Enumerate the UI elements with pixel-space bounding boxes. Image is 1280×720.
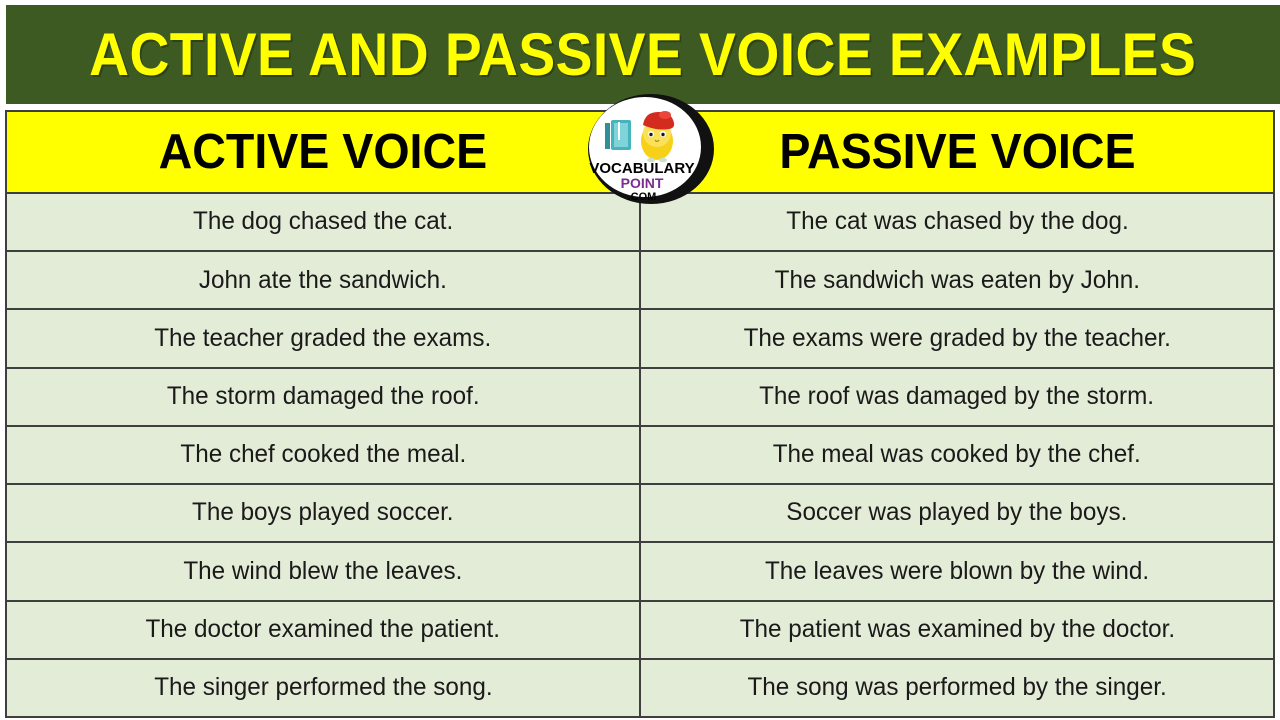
passive-sentence: Soccer was played by the boys. — [786, 499, 1127, 527]
table-row: The teacher graded the exams. The exams … — [6, 309, 1274, 367]
passive-cell: The sandwich was eaten by John. — [640, 251, 1274, 309]
passive-cell: The song was performed by the singer. — [640, 659, 1274, 717]
passive-cell: The exams were graded by the teacher. — [640, 309, 1274, 367]
examples-table-wrapper: ACTIVE VOICE PASSIVE VOICE The dog chase… — [5, 110, 1275, 718]
column-header-passive-voice-label: PASSIVE VOICE — [779, 128, 1135, 177]
passive-sentence: The leaves were blown by the wind. — [765, 558, 1149, 586]
page-title: ACTIVE AND PASSIVE VOICE EXAMPLES — [89, 25, 1196, 85]
column-header-passive-voice: PASSIVE VOICE — [640, 111, 1274, 193]
table-row: The wind blew the leaves. The leaves wer… — [6, 542, 1274, 600]
active-sentence: The boys played soccer. — [192, 499, 454, 527]
column-header-active-voice-label: ACTIVE VOICE — [159, 128, 487, 177]
active-sentence: The teacher graded the exams. — [154, 325, 491, 353]
passive-sentence: The exams were graded by the teacher. — [743, 325, 1170, 353]
table-row: John ate the sandwich. The sandwich was … — [6, 251, 1274, 309]
active-sentence: The wind blew the leaves. — [183, 558, 462, 586]
active-sentence: The dog chased the cat. — [193, 208, 453, 236]
title-banner: ACTIVE AND PASSIVE VOICE EXAMPLES — [6, 5, 1280, 104]
active-sentence: The doctor examined the patient. — [146, 616, 501, 644]
active-cell: The dog chased the cat. — [6, 193, 640, 251]
active-passive-table: ACTIVE VOICE PASSIVE VOICE The dog chase… — [5, 110, 1275, 718]
active-cell: The boys played soccer. — [6, 484, 640, 542]
passive-sentence: The sandwich was eaten by John. — [774, 267, 1139, 295]
column-header-active-voice: ACTIVE VOICE — [6, 111, 640, 193]
table-row: The singer performed the song. The song … — [6, 659, 1274, 717]
passive-sentence: The cat was chased by the dog. — [786, 208, 1128, 236]
passive-cell: The leaves were blown by the wind. — [640, 542, 1274, 600]
active-cell: The teacher graded the exams. — [6, 309, 640, 367]
active-sentence: The storm damaged the roof. — [167, 383, 480, 411]
table-row: The boys played soccer. Soccer was playe… — [6, 484, 1274, 542]
poster-root: ACTIVE AND PASSIVE VOICE EXAMPLES ACTIVE… — [0, 0, 1280, 720]
table-head: ACTIVE VOICE PASSIVE VOICE — [6, 111, 1274, 193]
passive-cell: The meal was cooked by the chef. — [640, 426, 1274, 484]
passive-sentence: The patient was examined by the doctor. — [739, 616, 1174, 644]
table-row: The storm damaged the roof. The roof was… — [6, 368, 1274, 426]
active-cell: The doctor examined the patient. — [6, 601, 640, 659]
table-row: The doctor examined the patient. The pat… — [6, 601, 1274, 659]
passive-sentence: The meal was cooked by the chef. — [773, 441, 1141, 469]
table-header-row: ACTIVE VOICE PASSIVE VOICE — [6, 111, 1274, 193]
table-row: The dog chased the cat. The cat was chas… — [6, 193, 1274, 251]
passive-sentence: The song was performed by the singer. — [747, 674, 1166, 702]
active-cell: The wind blew the leaves. — [6, 542, 640, 600]
active-sentence: The singer performed the song. — [154, 674, 492, 702]
active-cell: The singer performed the song. — [6, 659, 640, 717]
active-sentence: John ate the sandwich. — [199, 267, 447, 295]
passive-cell: The patient was examined by the doctor. — [640, 601, 1274, 659]
passive-cell: Soccer was played by the boys. — [640, 484, 1274, 542]
table-row: The chef cooked the meal. The meal was c… — [6, 426, 1274, 484]
active-cell: The chef cooked the meal. — [6, 426, 640, 484]
passive-sentence: The roof was damaged by the storm. — [760, 383, 1155, 411]
passive-cell: The cat was chased by the dog. — [640, 193, 1274, 251]
active-sentence: The chef cooked the meal. — [180, 441, 466, 469]
passive-cell: The roof was damaged by the storm. — [640, 368, 1274, 426]
active-cell: John ate the sandwich. — [6, 251, 640, 309]
active-cell: The storm damaged the roof. — [6, 368, 640, 426]
table-body: The dog chased the cat. The cat was chas… — [6, 193, 1274, 717]
